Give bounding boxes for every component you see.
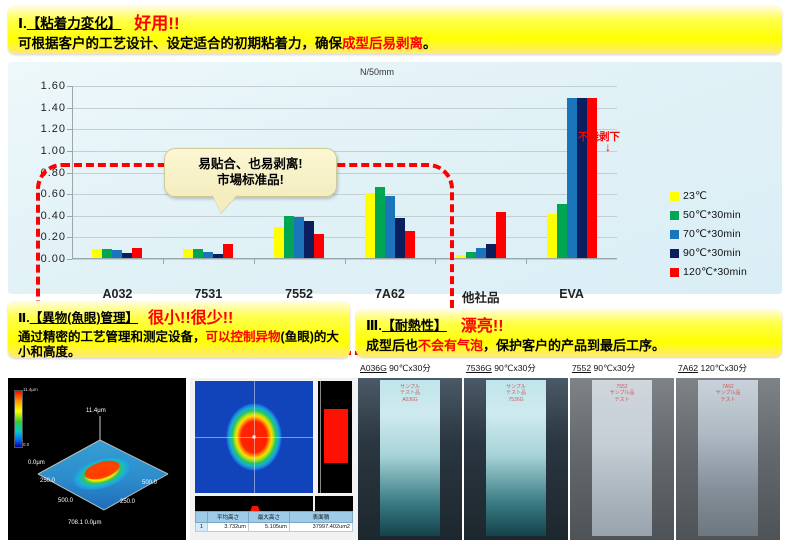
section-2-body-pre: 通过精密的工艺管理和测定设备，: [18, 330, 206, 344]
chart-bar: [304, 221, 314, 258]
col-max-height: 最大高さ: [248, 512, 289, 523]
x-axis-separator: [526, 259, 527, 264]
surface-tick-left-1: 250.0: [40, 478, 55, 484]
y-axis-tick-label: 0.80: [41, 167, 66, 179]
heatmap-graphic: [195, 381, 313, 493]
chart-bar: [193, 249, 203, 258]
section-1-title: 【粘着力変化】: [27, 16, 122, 31]
section-3-body: 成型后也不会有气泡，保护客户的产品到最后工序。: [366, 338, 774, 354]
table-row: 1 3.732um 5.105um 37997.402um2: [196, 523, 353, 532]
chart-gridline: [72, 173, 617, 174]
x-axis-category-label: EVA: [559, 287, 584, 301]
handwriting-line: 7536G: [506, 397, 526, 403]
surface-origin-label: 0.0μm: [28, 460, 45, 466]
section-1-heading: Ⅰ.【粘着力変化】好用!!: [18, 9, 774, 34]
x-axis-category-label: 他社品: [462, 287, 500, 306]
adhesion-chart-panel: N/50mm 1.601.401.201.000.800.600.400.200…: [8, 62, 782, 294]
section-2-highlight: 很小!!很少!!: [148, 310, 233, 327]
chart-bar: [577, 98, 587, 258]
legend-item[interactable]: 23℃: [670, 190, 747, 202]
legend-swatch-icon: [670, 268, 679, 277]
chart-bar: [102, 249, 112, 258]
table-header-row: 平均高さ 最大高さ 表面積: [196, 512, 353, 523]
chart-bar: [365, 193, 375, 258]
legend-item[interactable]: 70℃*30min: [670, 228, 747, 240]
bar-group: [547, 98, 597, 258]
handwriting-line: サンプル品: [716, 390, 741, 396]
surface-tick-right-2: 250.0: [120, 499, 135, 505]
slide-root: Ⅰ.【粘着力変化】好用!! 可根据客户的工艺设计、设定适合的初期粘着力，确保成型…: [0, 0, 790, 546]
section-3-title: 【耐熱性】: [382, 318, 447, 333]
section-1-number: Ⅰ.: [18, 16, 27, 31]
photo-2-sample-panel: サンプルテスト品7536G: [486, 380, 546, 536]
photo-3-sample-panel: 7552サンプル品テスト: [592, 380, 652, 536]
photo-4-name: 7A62: [678, 363, 698, 373]
photo-1-sample-panel: サンプルテスト品A036G: [380, 380, 440, 536]
photo-2-condition: 90℃x30分: [494, 363, 536, 373]
x-axis-category-label: 7552: [285, 287, 313, 301]
section-3-banner: Ⅲ.【耐熱性】漂亮!! 成型后也不会有气泡，保护客户的产品到最后工序。: [356, 309, 782, 357]
chart-bar: [567, 98, 577, 258]
chart-gridline: [72, 108, 617, 109]
legend-label: 120℃*30min: [683, 266, 747, 278]
chart-bar: [496, 212, 506, 258]
legend-swatch-icon: [670, 249, 679, 258]
chart-bar: [92, 249, 102, 258]
chart-bar: [112, 250, 122, 258]
surface-z-label: 11.4μm: [86, 408, 106, 414]
legend-swatch-icon: [670, 211, 679, 220]
section-1-body-post: 。: [423, 36, 437, 51]
chart-bar: [213, 254, 223, 258]
chart-bar: [405, 231, 415, 258]
y-axis-tick-label: 1.00: [41, 145, 66, 157]
chart-gridline: [72, 86, 617, 87]
handwriting-line: A036G: [400, 397, 420, 403]
cell-avg-height: 3.732um: [208, 523, 249, 532]
photo-handwriting-label: 7A62サンプル品テスト: [716, 384, 741, 403]
photo-1-name: A036G: [360, 363, 387, 373]
chart-bar: [294, 217, 304, 258]
chart-bar: [587, 98, 597, 258]
legend-label: 90℃*30min: [683, 247, 741, 259]
photo-caption-1: A036G 90℃x30分: [360, 362, 431, 374]
legend-label: 70℃*30min: [683, 228, 741, 240]
photo-handwriting-label: サンプルテスト品A036G: [400, 384, 420, 403]
x-axis-separator: [163, 259, 164, 264]
surface-tick-right-1: 500.0: [142, 480, 157, 486]
measurement-table: 平均高さ 最大高さ 表面積 1 3.732um 5.105um 37997.40…: [195, 511, 353, 532]
chart-bar: [375, 187, 385, 258]
chart-bar: [223, 244, 233, 258]
chart-legend: 23℃50℃*30min70℃*30min90℃*30min120℃*30min: [670, 190, 747, 285]
heatmap-center-marker-icon: [253, 436, 256, 439]
chart-bar: [385, 196, 395, 258]
section-1-body-red: 成型后易剥离: [342, 36, 423, 51]
section-3-highlight: 漂亮!!: [461, 318, 504, 335]
bar-group: [274, 216, 324, 258]
cell-max-height: 5.105um: [248, 523, 289, 532]
y-axis-line: [72, 86, 73, 259]
y-axis-tick-mark: [67, 259, 72, 260]
photo-1-condition: 90℃x30分: [389, 363, 431, 373]
y-axis-tick-label: 1.20: [41, 123, 66, 135]
bar-group: [456, 212, 506, 258]
photo-caption-2: 7536G 90℃x30分: [466, 362, 536, 374]
callout-tail-icon: [212, 194, 238, 213]
heat-test-photo-1: サンプルテスト品A036G: [358, 378, 462, 540]
legend-swatch-icon: [670, 230, 679, 239]
photo-caption-4: 7A62 120℃x30分: [678, 362, 747, 374]
chart-bar: [547, 214, 557, 258]
heat-test-photo-3: 7552サンプル品テスト: [570, 378, 674, 540]
handwriting-line: テスト品: [400, 390, 420, 396]
chart-bar: [476, 248, 486, 258]
eva-annotation-text: 不能剥下: [578, 129, 620, 144]
chart-gridline: [72, 129, 617, 130]
surface-bottom-label: 708.1 0.0μm: [68, 520, 101, 526]
legend-label: 50℃*30min: [683, 209, 741, 221]
photo-3-condition: 90℃x30分: [594, 363, 636, 373]
handwriting-line: テスト: [716, 397, 741, 403]
section-2-body: 通过精密的工艺管理和测定设备，可以控制异物(鱼眼)的大小和高度。: [18, 330, 342, 360]
x-axis-category-label: 7531: [194, 287, 222, 301]
section-3-body-pre: 成型后也: [366, 338, 418, 353]
bar-group: [92, 248, 142, 258]
section-2-heading: Ⅱ.【異物(魚眼)管理】很小!!很少!!: [18, 304, 342, 328]
section-3-heading: Ⅲ.【耐熱性】漂亮!!: [366, 312, 774, 336]
chart-gridline: [72, 151, 617, 152]
chart-bar: [284, 216, 294, 258]
chart-plot-area: 1.601.401.201.000.800.600.400.200.00A032…: [72, 86, 617, 259]
section-3-number: Ⅲ.: [366, 318, 382, 333]
y-axis-tick-label: 0.00: [41, 253, 66, 265]
section-1-highlight: 好用!!: [134, 14, 179, 33]
col-surface-area: 表面積: [289, 512, 352, 523]
chart-gridline: [72, 237, 617, 238]
chart-bar: [314, 234, 324, 258]
chart-bar: [456, 255, 466, 258]
chart-bar: [274, 227, 284, 258]
y-axis-tick-label: 1.60: [41, 80, 66, 92]
y-axis-tick-label: 0.60: [41, 188, 66, 200]
legend-label: 23℃: [683, 190, 707, 202]
fisheye-3d-surface-image: 11.4μm 0.0: [8, 378, 186, 540]
x-axis-separator: [254, 259, 255, 264]
section-1-banner: Ⅰ.【粘着力変化】好用!! 可根据客户的工艺设计、设定适合的初期粘着力，确保成型…: [8, 6, 782, 54]
cell-index: 1: [196, 523, 208, 532]
chart-bar: [486, 244, 496, 258]
chart-bar: [203, 252, 213, 258]
chart-gridline: [72, 216, 617, 217]
section-2-body-red: 可以控制异物: [206, 330, 281, 344]
bar-group: [365, 187, 415, 258]
chart-bar: [183, 249, 193, 258]
surface-mesh-graphic: [8, 378, 186, 540]
callout-line-1: 易贴合、也易剥离!: [198, 157, 302, 172]
legend-item[interactable]: 50℃*30min: [670, 209, 747, 221]
col-avg-height: 平均高さ: [208, 512, 249, 523]
heat-test-photo-4: 7A62サンプル品テスト: [676, 378, 780, 540]
heatmap-vertical-profile: [318, 381, 352, 493]
callout-line-2: 市場标准品!: [217, 173, 284, 188]
chart-bar: [132, 248, 142, 258]
chart-unit-label: N/50mm: [360, 67, 394, 77]
profile-curve-v: [320, 381, 321, 493]
chart-callout-bubble: 易贴合、也易剥离! 市場标准品!: [164, 148, 337, 197]
legend-item[interactable]: 120℃*30min: [670, 266, 747, 278]
profile-fill-v: [324, 409, 348, 463]
photo-2-name: 7536G: [466, 363, 492, 373]
photo-3-name: 7552: [572, 363, 591, 373]
legend-item[interactable]: 90℃*30min: [670, 247, 747, 259]
col-index: [196, 512, 208, 523]
bar-group: [183, 244, 233, 258]
section-3-body-red: 不会有气泡: [418, 338, 483, 353]
chart-bar: [122, 253, 132, 258]
section-2-banner: Ⅱ.【異物(魚眼)管理】很小!!很少!! 通过精密的工艺管理和测定设备，可以控制…: [8, 301, 350, 358]
surface-tick-left-2: 500.0: [58, 498, 73, 504]
x-axis-separator: [345, 259, 346, 264]
y-axis-tick-label: 0.40: [41, 210, 66, 222]
handwriting-line: テスト品: [506, 390, 526, 396]
fisheye-2d-heatmap-image: 平均高さ 最大高さ 表面積 1 3.732um 5.105um 37997.40…: [190, 378, 358, 540]
photo-4-condition: 120℃x30分: [700, 363, 746, 373]
eva-annotation-arrow-icon: ↓: [605, 141, 611, 153]
handwriting-line: テスト: [610, 397, 635, 403]
section-2-title: 【異物(魚眼)管理】: [30, 311, 138, 325]
heat-test-photo-2: サンプルテスト品7536G: [464, 378, 568, 540]
legend-swatch-icon: [670, 192, 679, 201]
y-axis-tick-label: 1.40: [41, 102, 66, 114]
photo-handwriting-label: サンプルテスト品7536G: [506, 384, 526, 403]
x-axis-separator: [435, 259, 436, 264]
photo-caption-3: 7552 90℃x30分: [572, 362, 635, 374]
x-axis-category-label: A032: [102, 287, 132, 301]
section-2-number: Ⅱ.: [18, 311, 30, 325]
cell-surface-area: 37997.402um2: [289, 523, 352, 532]
photo-4-sample-panel: 7A62サンプル品テスト: [698, 380, 758, 536]
chart-bar: [557, 204, 567, 258]
section-1-body-pre: 可根据客户的工艺设计、设定适合的初期粘着力，确保: [18, 36, 342, 51]
photo-handwriting-label: 7552サンプル品テスト: [610, 384, 635, 403]
section-3-body-post: ，保护客户的产品到最后工序。: [483, 338, 665, 353]
chart-gridline: [72, 194, 617, 195]
x-axis-category-label: 7A62: [375, 287, 405, 301]
handwriting-line: サンプル品: [610, 390, 635, 396]
y-axis-tick-label: 0.20: [41, 231, 66, 243]
chart-bar: [466, 252, 476, 258]
section-1-body: 可根据客户的工艺设计、设定适合的初期粘着力，确保成型后易剥离。: [18, 36, 774, 52]
chart-bar: [395, 218, 405, 258]
